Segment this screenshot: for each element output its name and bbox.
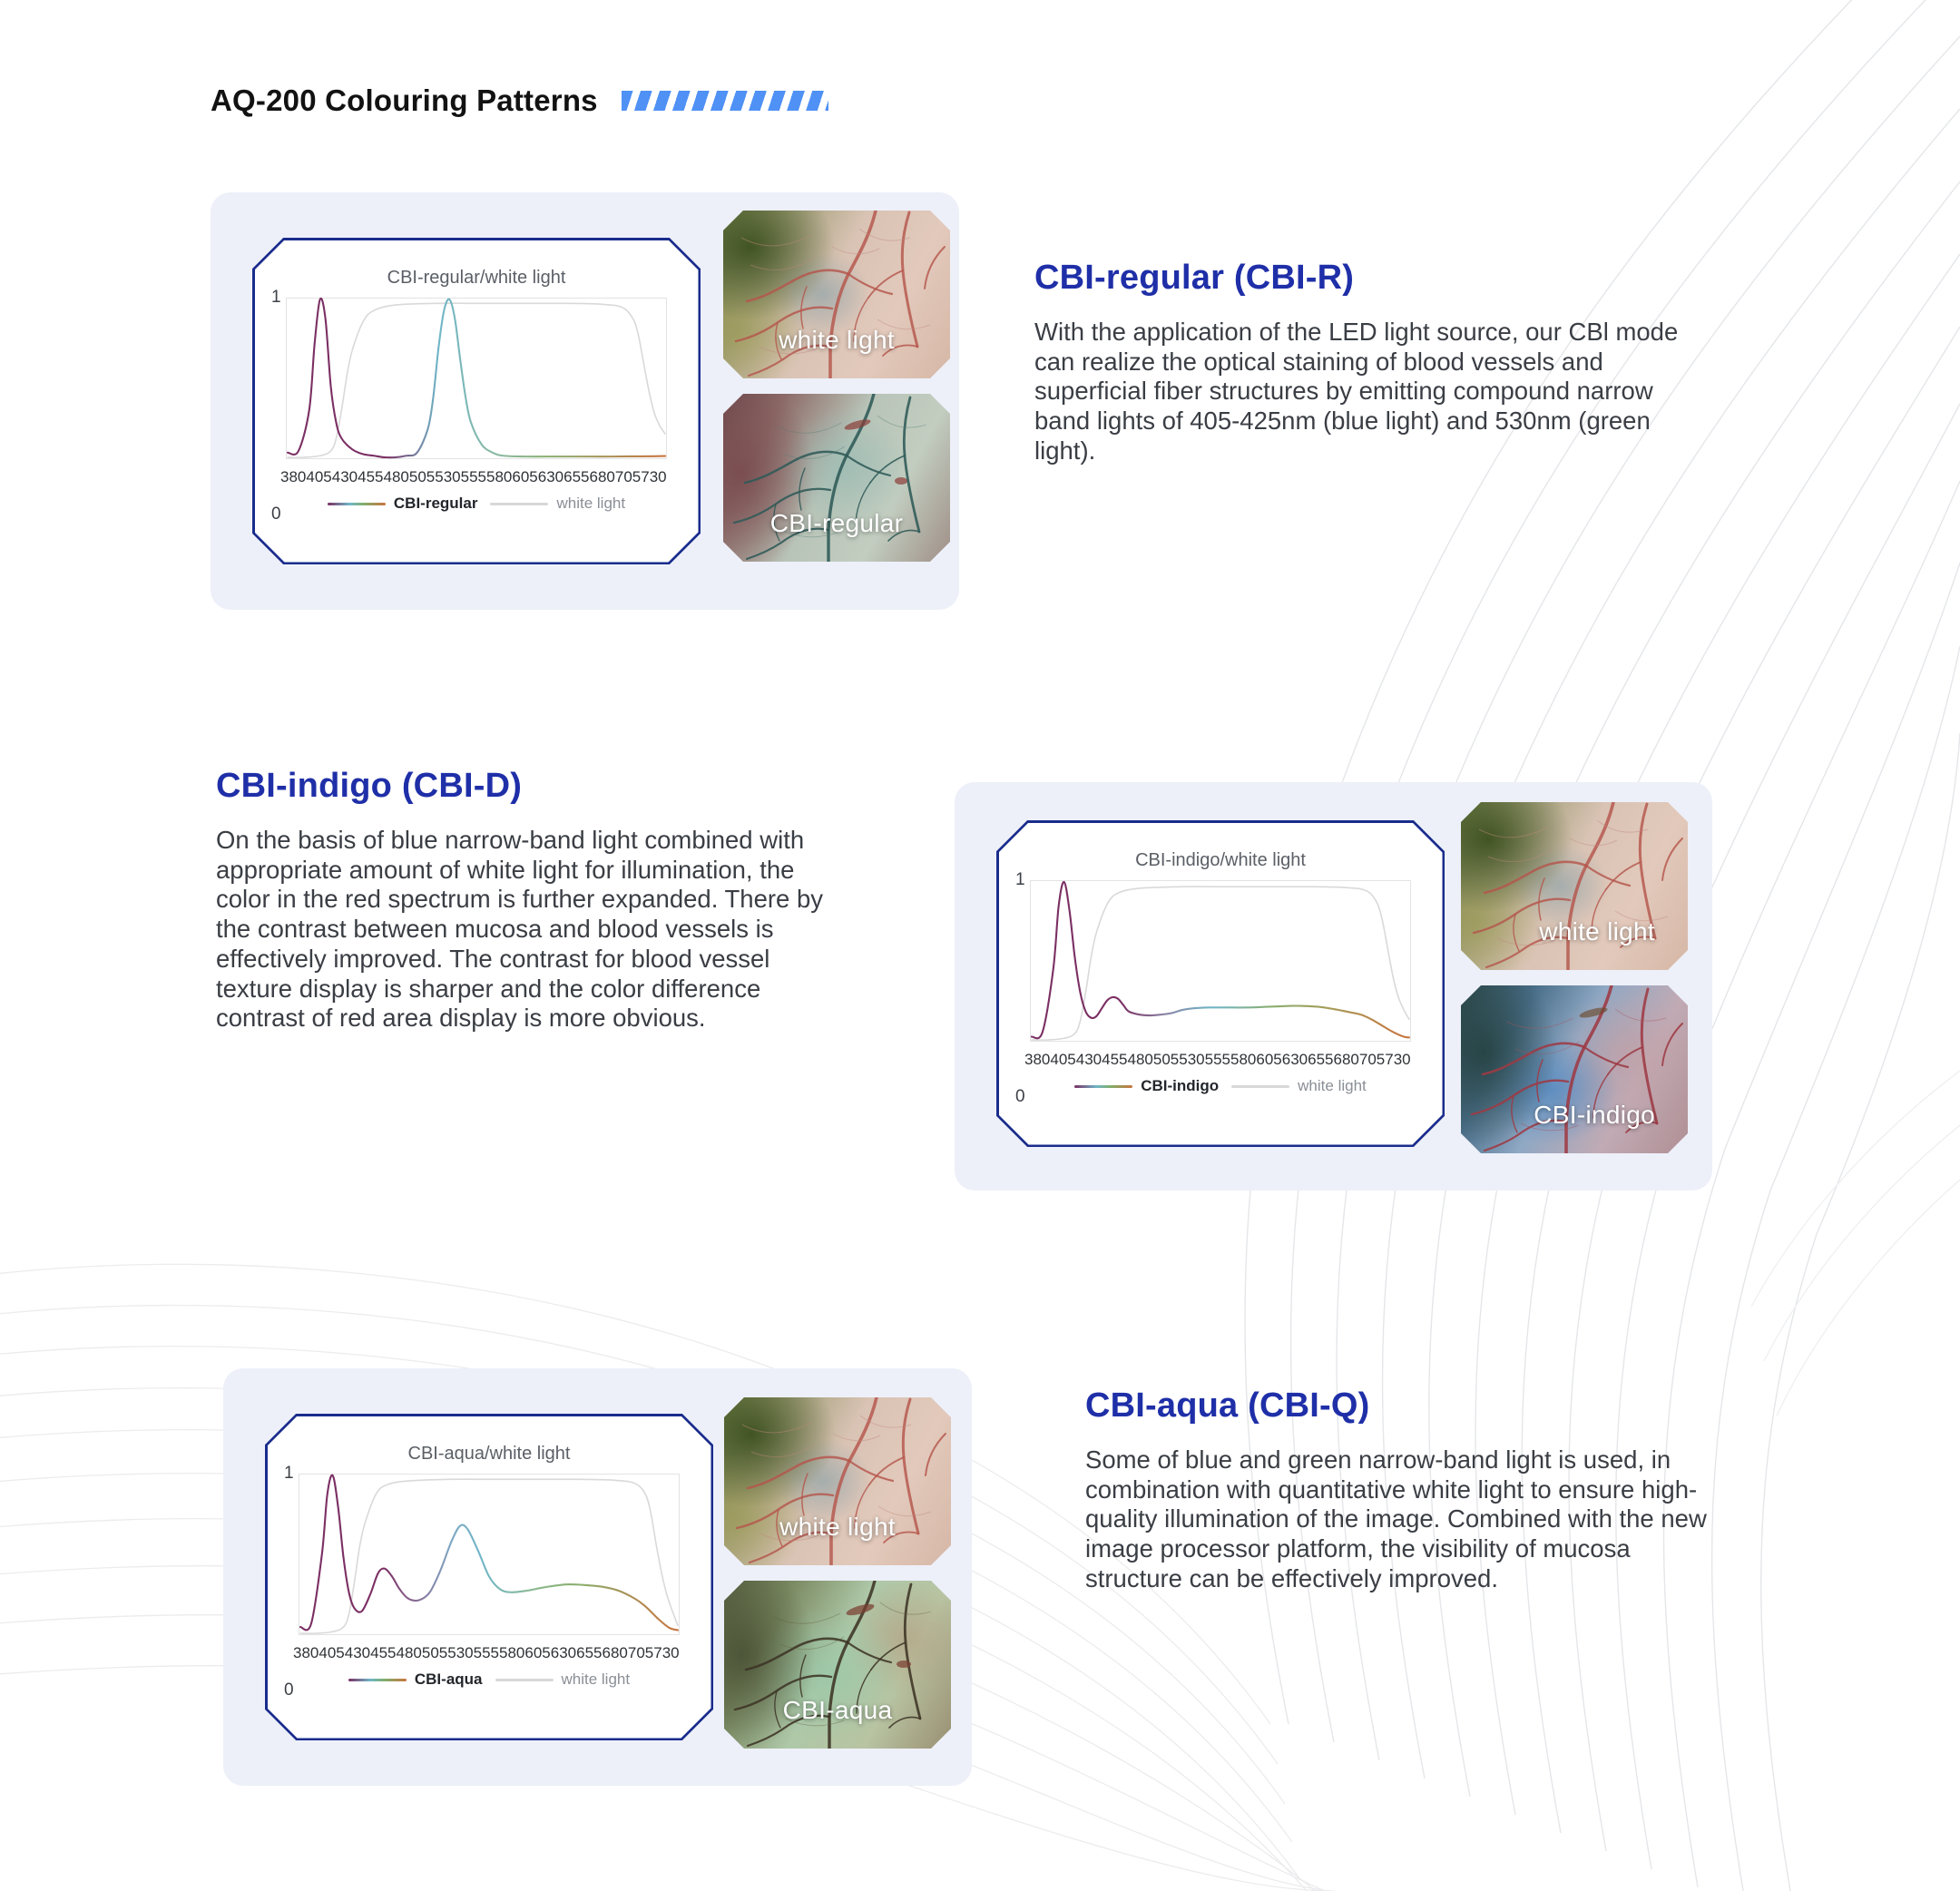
legend-swatch-white-light-icon	[495, 1679, 554, 1681]
legend-label-white-light: white light	[556, 495, 625, 513]
endo-caption: white light	[723, 326, 950, 355]
x-axis-ticks: 3804054304554805055305555806056306556807…	[280, 468, 661, 486]
x-axis-tick: 430	[332, 468, 358, 486]
y-axis-tick-max: 1	[284, 1464, 294, 1484]
text-block-cbi-indigo: CBI-indigo (CBI-D) On the basis of blue …	[216, 767, 851, 1034]
x-axis-tick: 530	[435, 468, 460, 486]
legend-swatch-cbi-icon	[1074, 1085, 1132, 1088]
legend-label-cbi: CBI-indigo	[1141, 1077, 1219, 1095]
x-axis-tick: 505	[422, 1644, 447, 1662]
legend-swatch-cbi-icon	[328, 503, 386, 505]
endoscopy-image-white-light: white light	[1461, 802, 1688, 970]
x-axis-tick: 505	[409, 468, 435, 486]
legend-item-white-light: white light	[490, 495, 625, 513]
legend-swatch-white-light-icon	[490, 503, 548, 505]
legend-label-white-light: white light	[562, 1671, 631, 1689]
y-axis-tick-min: 0	[271, 505, 281, 524]
legend-item-cbi: CBI-regular	[328, 495, 478, 513]
legend-item-cbi: CBI-indigo	[1074, 1077, 1219, 1095]
text-block-cbi-regular: CBI-regular (CBI-R) With the application…	[1034, 259, 1688, 466]
x-axis-tick: 630	[551, 1644, 576, 1662]
x-axis-tick: 430	[1076, 1051, 1102, 1069]
x-axis-tick: 505	[1153, 1051, 1179, 1069]
x-axis-tick: 630	[1282, 1051, 1308, 1069]
x-axis-tick: 655	[1308, 1051, 1333, 1069]
x-axis-tick: 580	[499, 1644, 524, 1662]
x-axis-tick: 605	[524, 1644, 550, 1662]
page-title: AQ-200 Colouring Patterns	[211, 83, 598, 118]
x-axis-tick: 455	[1102, 1051, 1127, 1069]
x-axis-tick: 380	[1024, 1051, 1050, 1069]
page-header: AQ-200 Colouring Patterns	[211, 83, 828, 118]
x-axis-tick: 380	[280, 468, 306, 486]
endo-caption: CBI-regular	[723, 509, 950, 538]
x-axis-tick: 555	[461, 468, 486, 486]
card-cbi-indigo: CBI-indigo/white light 1 0	[955, 782, 1712, 1190]
endoscopy-image-white-light: white light	[724, 1397, 951, 1565]
plot-area-wrapper: 1 0	[1030, 880, 1411, 1095]
plot-svg	[299, 1474, 680, 1635]
x-axis-tick: 405	[318, 1644, 344, 1662]
x-axis-ticks: 3804054304554805055305555806056306556807…	[1024, 1051, 1406, 1069]
section-title-cbi-regular: CBI-regular (CBI-R)	[1034, 259, 1688, 298]
x-axis-tick: 380	[293, 1644, 318, 1662]
x-axis-tick: 705	[615, 468, 641, 486]
chart-legend: CBI-indigo white light	[1030, 1077, 1411, 1095]
chart-title: CBI-regular/white light	[387, 268, 566, 289]
x-axis-tick: 730	[653, 1644, 679, 1662]
chart-cbi-aqua: CBI-aqua/white light 1 0	[265, 1414, 713, 1740]
y-axis-tick-max: 1	[1015, 870, 1025, 890]
x-axis-tick: 605	[512, 468, 537, 486]
endo-caption: CBI-aqua	[724, 1696, 951, 1725]
y-axis-tick-min: 0	[284, 1680, 294, 1700]
x-axis-tick: 730	[641, 468, 666, 486]
x-axis-tick: 555	[474, 1644, 499, 1662]
card-cbi-aqua: CBI-aqua/white light 1 0	[223, 1368, 972, 1786]
card-cbi-regular: CBI-regular/white light 1 0	[211, 192, 959, 610]
x-axis-tick: 605	[1256, 1051, 1281, 1069]
section-body-cbi-aqua: Some of blue and green narrow-band light…	[1085, 1445, 1720, 1594]
x-axis-tick: 480	[384, 468, 409, 486]
plot-area-wrapper: 1 0	[286, 298, 667, 513]
chart-cbi-indigo: CBI-indigo/white light 1 0	[996, 820, 1445, 1147]
x-axis-tick: 680	[1334, 1051, 1359, 1069]
chart-panel-cbi-aqua: CBI-aqua/white light 1 0	[265, 1414, 713, 1740]
endo-caption: white light	[724, 1513, 951, 1542]
endoscopy-image-cbi-aqua: CBI-aqua	[724, 1581, 951, 1749]
x-axis-tick: 655	[576, 1644, 602, 1662]
section-title-cbi-indigo: CBI-indigo (CBI-D)	[216, 767, 851, 806]
x-axis-tick: 530	[447, 1644, 473, 1662]
x-axis-tick: 555	[1205, 1051, 1230, 1069]
x-axis-tick: 705	[628, 1644, 653, 1662]
plot-area-wrapper: 1 0	[299, 1474, 680, 1689]
x-axis-tick: 430	[345, 1644, 370, 1662]
chart-panel-cbi-indigo: CBI-indigo/white light 1 0	[996, 820, 1445, 1147]
x-axis-tick: 680	[603, 1644, 628, 1662]
legend-swatch-white-light-icon	[1231, 1085, 1289, 1088]
x-axis-tick: 655	[563, 468, 589, 486]
chart-legend: CBI-aqua white light	[299, 1671, 680, 1689]
chart-title: CBI-aqua/white light	[408, 1444, 571, 1465]
x-axis-ticks: 3804054304554805055305555806056306556807…	[293, 1644, 674, 1662]
x-axis-tick: 455	[358, 468, 383, 486]
endoscopy-image-cbi-indigo: CBI-indigo	[1461, 985, 1688, 1153]
plot-svg	[286, 298, 667, 459]
legend-label-cbi: CBI-regular	[394, 495, 478, 513]
legend-swatch-cbi-icon	[348, 1679, 407, 1681]
x-axis-tick: 455	[370, 1644, 396, 1662]
endoscopy-image-cbi-regular: CBI-regular	[723, 394, 950, 562]
x-axis-tick: 480	[1128, 1051, 1153, 1069]
x-axis-tick: 405	[1050, 1051, 1075, 1069]
endoscopy-image-white-light: white light	[723, 211, 950, 378]
legend-label-cbi: CBI-aqua	[415, 1671, 483, 1689]
y-axis-tick-max: 1	[271, 288, 281, 308]
plot-svg	[1030, 880, 1411, 1042]
chart-legend: CBI-regular white light	[286, 495, 667, 513]
section-body-cbi-indigo: On the basis of blue narrow-band light c…	[216, 826, 851, 1034]
x-axis-tick: 530	[1179, 1051, 1204, 1069]
y-axis-tick-min: 0	[1015, 1087, 1025, 1107]
section-title-cbi-aqua: CBI-aqua (CBI-Q)	[1085, 1386, 1720, 1426]
endo-caption: CBI-indigo	[1461, 1101, 1688, 1130]
legend-item-white-light: white light	[495, 1671, 631, 1689]
x-axis-tick: 405	[306, 468, 331, 486]
endo-caption: white light	[1461, 917, 1688, 946]
legend-label-white-light: white light	[1298, 1077, 1367, 1095]
legend-item-white-light: white light	[1231, 1077, 1367, 1095]
text-block-cbi-aqua: CBI-aqua (CBI-Q) Some of blue and green …	[1085, 1386, 1720, 1594]
legend-item-cbi: CBI-aqua	[348, 1671, 483, 1689]
x-axis-tick: 705	[1359, 1051, 1385, 1069]
section-body-cbi-regular: With the application of the LED light so…	[1034, 318, 1688, 466]
x-axis-tick: 480	[397, 1644, 422, 1662]
x-axis-tick: 730	[1385, 1051, 1410, 1069]
x-axis-tick: 630	[538, 468, 563, 486]
chart-cbi-regular: CBI-regular/white light 1 0	[252, 238, 701, 564]
chart-title: CBI-indigo/white light	[1135, 850, 1306, 871]
x-axis-tick: 580	[486, 468, 512, 486]
stripe-decoration-icon	[622, 91, 828, 111]
x-axis-tick: 680	[590, 468, 615, 486]
x-axis-tick: 580	[1230, 1051, 1256, 1069]
chart-panel-cbi-regular: CBI-regular/white light 1 0	[252, 238, 701, 564]
